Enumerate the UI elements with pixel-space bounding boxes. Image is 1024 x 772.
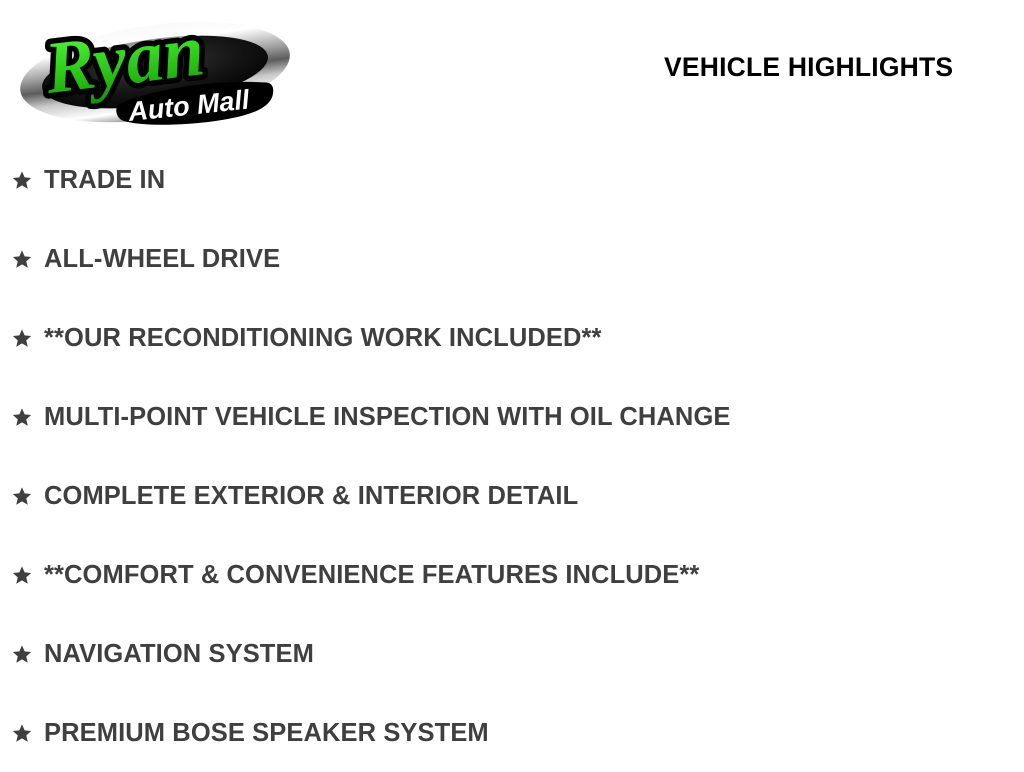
ryan-auto-mall-logo: Ryan Ryan Auto Mall bbox=[16, 10, 294, 128]
vehicle-highlights-page: Ryan Ryan Auto Mall VEHICLE HIGHLIGHTS T… bbox=[0, 0, 1024, 768]
star-icon bbox=[12, 328, 32, 348]
highlight-label: PREMIUM BOSE SPEAKER SYSTEM bbox=[44, 718, 489, 748]
star-icon bbox=[12, 486, 32, 506]
highlight-item-comfort-convenience: **COMFORT & CONVENIENCE FEATURES INCLUDE… bbox=[0, 535, 1024, 614]
highlight-label: MULTI-POINT VEHICLE INSPECTION WITH OIL … bbox=[44, 402, 731, 432]
star-icon bbox=[12, 170, 32, 190]
vehicle-highlights-list: TRADE IN ALL-WHEEL DRIVE **OUR RECONDITI… bbox=[0, 140, 1024, 772]
highlight-label: **OUR RECONDITIONING WORK INCLUDED** bbox=[44, 323, 602, 353]
star-icon bbox=[12, 249, 32, 269]
highlight-item-trade-in: TRADE IN bbox=[0, 140, 1024, 219]
logo-graphic: Ryan Ryan Auto Mall bbox=[16, 10, 294, 128]
highlight-item-all-wheel-drive: ALL-WHEEL DRIVE bbox=[0, 219, 1024, 298]
star-icon bbox=[12, 565, 32, 585]
highlight-item-reconditioning-work: **OUR RECONDITIONING WORK INCLUDED** bbox=[0, 298, 1024, 377]
highlight-item-navigation-system: NAVIGATION SYSTEM bbox=[0, 614, 1024, 693]
star-icon bbox=[12, 723, 32, 743]
highlight-label: COMPLETE EXTERIOR & INTERIOR DETAIL bbox=[44, 481, 578, 511]
highlight-item-multi-point-inspection: MULTI-POINT VEHICLE INSPECTION WITH OIL … bbox=[0, 377, 1024, 456]
star-icon bbox=[12, 644, 32, 664]
highlight-label: **COMFORT & CONVENIENCE FEATURES INCLUDE… bbox=[44, 560, 699, 590]
highlight-label: TRADE IN bbox=[44, 165, 165, 195]
highlight-label: ALL-WHEEL DRIVE bbox=[44, 244, 280, 274]
star-icon bbox=[12, 407, 32, 427]
highlight-item-exterior-interior-detail: COMPLETE EXTERIOR & INTERIOR DETAIL bbox=[0, 456, 1024, 535]
highlight-label: NAVIGATION SYSTEM bbox=[44, 639, 314, 669]
page-title: VEHICLE HIGHLIGHTS bbox=[664, 51, 1004, 83]
highlight-item-bose-speaker-system: PREMIUM BOSE SPEAKER SYSTEM bbox=[0, 693, 1024, 772]
page-header: Ryan Ryan Auto Mall VEHICLE HIGHLIGHTS bbox=[0, 0, 1024, 140]
